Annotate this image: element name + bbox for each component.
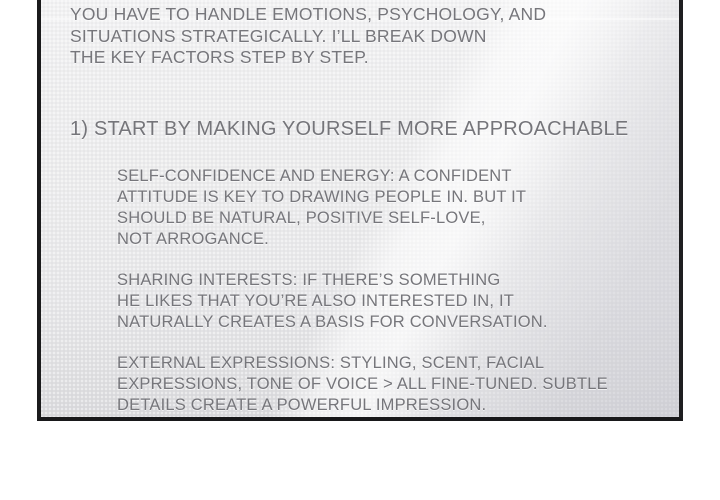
intro-paragraph: YOU HAVE TO HANDLE EMOTIONS, PSYCHOLOGY,… (70, 4, 679, 69)
intro-line: SITUATIONS STRATEGICALLY. I’LL BREAK DOW… (70, 26, 679, 48)
bullet-line: ATTITUDE IS KEY TO DRAWING PEOPLE IN. BU… (117, 187, 679, 208)
bullet-line: SHARING INTERESTS: IF THERE’S SOMETHING (117, 270, 679, 291)
section-heading: 1) START BY MAKING YOURSELF MORE APPROAC… (70, 117, 679, 141)
bullet-block: EXTERNAL EXPRESSIONS: STYLING, SCENT, FA… (117, 353, 679, 416)
intro-line: THE KEY FACTORS STEP BY STEP. (70, 47, 679, 69)
bullet-line: DETAILS CREATE A POWERFUL IMPRESSION. (117, 395, 679, 416)
bullet-line: EXPRESSIONS, TONE OF VOICE > ALL FINE-TU… (117, 374, 679, 395)
bullet-line: NATURALLY CREATES A BASIS FOR CONVERSATI… (117, 312, 679, 333)
bullet-block: SHARING INTERESTS: IF THERE’S SOMETHING … (117, 270, 679, 333)
slide-panel: YOU HAVE TO HANDLE EMOTIONS, PSYCHOLOGY,… (37, 0, 683, 421)
bullet-line: SELF-CONFIDENCE AND ENERGY: A CONFIDENT (117, 166, 679, 187)
bullet-line: EXTERNAL EXPRESSIONS: STYLING, SCENT, FA… (117, 353, 679, 374)
slide-content: YOU HAVE TO HANDLE EMOTIONS, PSYCHOLOGY,… (41, 0, 679, 416)
intro-line: YOU HAVE TO HANDLE EMOTIONS, PSYCHOLOGY,… (70, 4, 679, 26)
bullet-block: SELF-CONFIDENCE AND ENERGY: A CONFIDENT … (117, 166, 679, 250)
bullet-line: NOT ARROGANCE. (117, 229, 679, 250)
bullet-line: SHOULD BE NATURAL, POSITIVE SELF-LOVE, (117, 208, 679, 229)
bullet-line: HE LIKES THAT YOU’RE ALSO INTERESTED IN,… (117, 291, 679, 312)
